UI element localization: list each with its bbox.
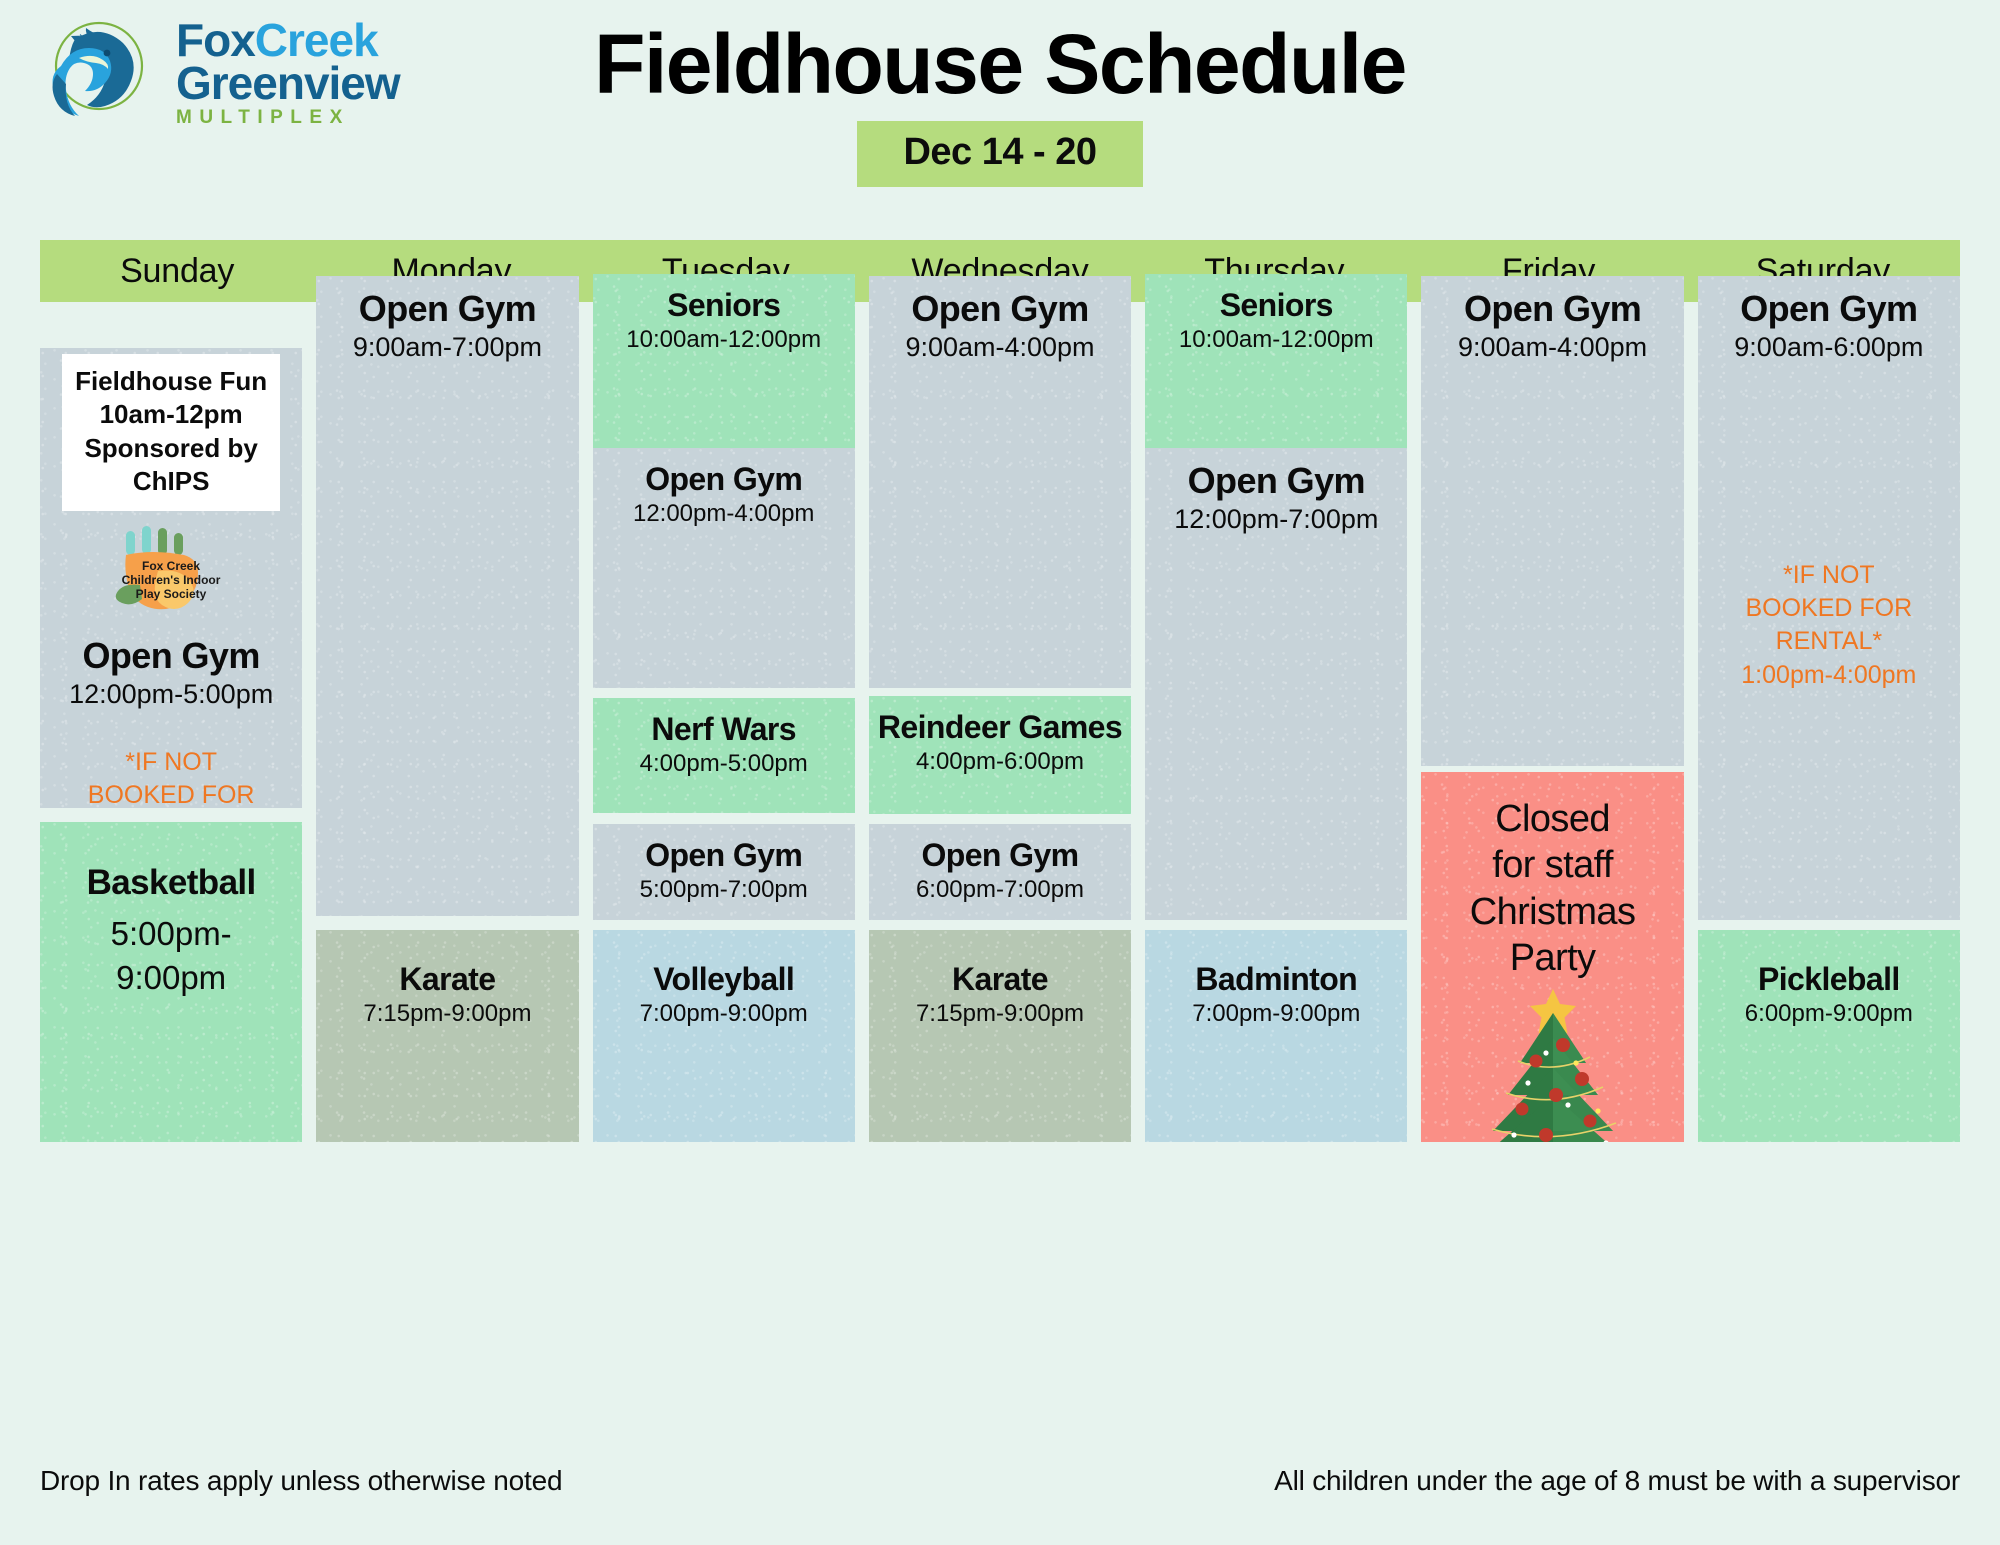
chips-logo-line-2: Children's Indoor <box>122 573 221 587</box>
rental-note-saturday-line-1: *IF NOT <box>1706 559 1952 592</box>
event-block-sunday-open-gym[interactable]: Fieldhouse Fun 10am-12pm Sponsored by Ch… <box>40 348 302 808</box>
event-title-tuesday-volleyball: Volleyball <box>601 962 847 997</box>
closed-line-4: Party <box>1429 935 1675 981</box>
event-title-monday-open-gym: Open Gym <box>324 290 570 329</box>
event-block-sunday-basketball[interactable]: Basketball 5:00pm- 9:00pm <box>40 822 302 1142</box>
event-title-wednesday-karate: Karate <box>877 962 1123 997</box>
day-column-friday: Open Gym 9:00am-4:00pm Closed for staff … <box>1421 348 1683 1443</box>
day-column-wednesday: Open Gym 9:00am-4:00pm Reindeer Games 4:… <box>869 348 1131 1443</box>
event-time-sunday-basketball-line-2: 9:00pm <box>48 956 294 1001</box>
event-time-wednesday-reindeer-games: 4:00pm-6:00pm <box>877 748 1123 776</box>
event-time-saturday-pickleball: 6:00pm-9:00pm <box>1706 1000 1952 1028</box>
promo-line-4: ChIPS <box>68 465 274 498</box>
promo-card-fieldhouse-fun: Fieldhouse Fun 10am-12pm Sponsored by Ch… <box>62 354 280 511</box>
event-title-tuesday-nerf-wars: Nerf Wars <box>601 712 847 747</box>
chips-logo-line-1: Fox Creek <box>142 559 200 573</box>
event-time-monday-open-gym: 9:00am-7:00pm <box>324 332 570 363</box>
event-block-tuesday-open-gym-1[interactable]: Open Gym 12:00pm-4:00pm <box>593 448 855 688</box>
day-header-sunday: Sunday <box>40 240 314 302</box>
event-block-tuesday-volleyball[interactable]: Volleyball 7:00pm-9:00pm <box>593 930 855 1142</box>
rental-note-saturday-line-4: 1:00pm-4:00pm <box>1706 659 1952 692</box>
christmas-tree-icon <box>1458 983 1648 1142</box>
rental-note-saturday-line-3: RENTAL* <box>1706 625 1952 658</box>
event-title-tuesday-open-gym-2: Open Gym <box>601 838 847 873</box>
event-block-tuesday-seniors[interactable]: Seniors 10:00am-12:00pm <box>593 274 855 470</box>
closed-line-2: for staff <box>1429 842 1675 888</box>
footer-note-supervision: All children under the age of 8 must be … <box>1274 1465 1960 1497</box>
event-block-monday-open-gym[interactable]: Open Gym 9:00am-7:00pm <box>316 276 578 916</box>
day-column-sunday: Fieldhouse Fun 10am-12pm Sponsored by Ch… <box>40 348 302 1443</box>
event-time-tuesday-open-gym-2: 5:00pm-7:00pm <box>601 876 847 904</box>
event-title-tuesday-open-gym-1: Open Gym <box>601 462 847 497</box>
event-title-monday-karate: Karate <box>324 962 570 997</box>
event-block-wednesday-open-gym-1[interactable]: Open Gym 9:00am-4:00pm <box>869 276 1131 688</box>
day-column-monday: Open Gym 9:00am-7:00pm Karate 7:15pm-9:0… <box>316 348 578 1443</box>
promo-line-3: Sponsored by <box>68 432 274 465</box>
event-title-wednesday-reindeer-games: Reindeer Games <box>877 710 1123 745</box>
event-block-wednesday-open-gym-2[interactable]: Open Gym 6:00pm-7:00pm <box>869 824 1131 920</box>
chips-logo-line-3: Play Society <box>136 587 207 601</box>
event-block-friday-open-gym[interactable]: Open Gym 9:00am-4:00pm <box>1421 276 1683 766</box>
event-time-tuesday-seniors: 10:00am-12:00pm <box>601 326 847 354</box>
chips-handprint-logo-icon: Fox Creek Children's Indoor Play Society <box>96 525 246 617</box>
event-title-sunday-open-gym: Open Gym <box>48 637 294 676</box>
event-time-tuesday-open-gym-1: 12:00pm-4:00pm <box>601 500 847 528</box>
day-column-saturday: Open Gym 9:00am-6:00pm *IF NOT BOOKED FO… <box>1698 348 1960 1443</box>
event-title-tuesday-seniors: Seniors <box>601 288 847 323</box>
rental-note-saturday: *IF NOT BOOKED FOR RENTAL* 1:00pm-4:00pm <box>1706 559 1952 692</box>
event-block-wednesday-reindeer-games[interactable]: Reindeer Games 4:00pm-6:00pm <box>869 696 1131 814</box>
event-time-thursday-open-gym: 12:00pm-7:00pm <box>1153 504 1399 535</box>
event-time-wednesday-open-gym-2: 6:00pm-7:00pm <box>877 876 1123 904</box>
promo-line-1: Fieldhouse Fun <box>68 365 274 398</box>
brand-logo: FoxCreek Greenview MULTIPLEX <box>40 14 400 132</box>
closed-line-1: Closed <box>1429 796 1675 842</box>
event-title-thursday-seniors: Seniors <box>1153 288 1399 323</box>
event-time-thursday-seniors: 10:00am-12:00pm <box>1153 326 1399 354</box>
page-header: FoxCreek Greenview MULTIPLEX Fieldhouse … <box>0 0 2000 185</box>
event-title-wednesday-open-gym-2: Open Gym <box>877 838 1123 873</box>
event-block-thursday-open-gym[interactable]: Open Gym 12:00pm-7:00pm <box>1145 448 1407 920</box>
event-block-friday-closed[interactable]: Closed for staff Christmas Party <box>1421 772 1683 1142</box>
rental-note-sunday-line-1: *IF NOT <box>48 746 294 779</box>
day-column-tuesday: Seniors 10:00am-12:00pm Open Gym 12:00pm… <box>593 348 855 1443</box>
event-block-tuesday-open-gym-2[interactable]: Open Gym 5:00pm-7:00pm <box>593 824 855 920</box>
event-time-friday-open-gym: 9:00am-4:00pm <box>1429 332 1675 363</box>
closed-line-3: Christmas <box>1429 889 1675 935</box>
event-time-sunday-open-gym: 12:00pm-5:00pm <box>48 679 294 710</box>
event-block-thursday-seniors[interactable]: Seniors 10:00am-12:00pm <box>1145 274 1407 470</box>
event-time-tuesday-volleyball: 7:00pm-9:00pm <box>601 1000 847 1028</box>
event-time-thursday-badminton: 7:00pm-9:00pm <box>1153 1000 1399 1028</box>
fox-head-logo-icon <box>40 14 162 132</box>
page-footer: Drop In rates apply unless otherwise not… <box>40 1465 1960 1497</box>
event-time-saturday-open-gym: 9:00am-6:00pm <box>1706 332 1952 363</box>
event-time-wednesday-karate: 7:15pm-9:00pm <box>877 1000 1123 1028</box>
rental-note-sunday: *IF NOT BOOKED FOR RENTAL* 1:00pm-4:00pm <box>48 746 294 808</box>
event-title-thursday-open-gym: Open Gym <box>1153 462 1399 501</box>
event-title-saturday-open-gym: Open Gym <box>1706 290 1952 329</box>
event-time-monday-karate: 7:15pm-9:00pm <box>324 1000 570 1028</box>
event-time-wednesday-open-gym-1: 9:00am-4:00pm <box>877 332 1123 363</box>
event-block-saturday-open-gym[interactable]: Open Gym 9:00am-6:00pm *IF NOT BOOKED FO… <box>1698 276 1960 920</box>
promo-line-2: 10am-12pm <box>68 398 274 431</box>
event-title-friday-open-gym: Open Gym <box>1429 290 1675 329</box>
event-block-saturday-pickleball[interactable]: Pickleball 6:00pm-9:00pm <box>1698 930 1960 1142</box>
brand-word-greenview: Greenview <box>176 62 400 104</box>
event-title-thursday-badminton: Badminton <box>1153 962 1399 997</box>
event-title-sunday-basketball: Basketball <box>48 864 294 902</box>
rental-note-sunday-line-2: BOOKED FOR <box>48 779 294 808</box>
rental-note-saturday-line-2: BOOKED FOR <box>1706 592 1952 625</box>
date-range-badge: Dec 14 - 20 <box>857 121 1142 187</box>
event-time-tuesday-nerf-wars: 4:00pm-5:00pm <box>601 750 847 778</box>
event-time-sunday-basketball-line-1: 5:00pm- <box>48 912 294 957</box>
schedule-grid: Fieldhouse Fun 10am-12pm Sponsored by Ch… <box>40 348 1960 1443</box>
event-block-thursday-badminton[interactable]: Badminton 7:00pm-9:00pm <box>1145 930 1407 1142</box>
day-column-thursday: Seniors 10:00am-12:00pm Open Gym 12:00pm… <box>1145 348 1407 1443</box>
event-title-wednesday-open-gym-1: Open Gym <box>877 290 1123 329</box>
event-title-saturday-pickleball: Pickleball <box>1706 962 1952 997</box>
brand-word-multiplex: MULTIPLEX <box>176 109 400 126</box>
event-block-tuesday-nerf-wars[interactable]: Nerf Wars 4:00pm-5:00pm <box>593 698 855 813</box>
event-block-wednesday-karate[interactable]: Karate 7:15pm-9:00pm <box>869 930 1131 1142</box>
event-block-monday-karate[interactable]: Karate 7:15pm-9:00pm <box>316 930 578 1142</box>
footer-note-drop-in-rates: Drop In rates apply unless otherwise not… <box>40 1465 562 1497</box>
